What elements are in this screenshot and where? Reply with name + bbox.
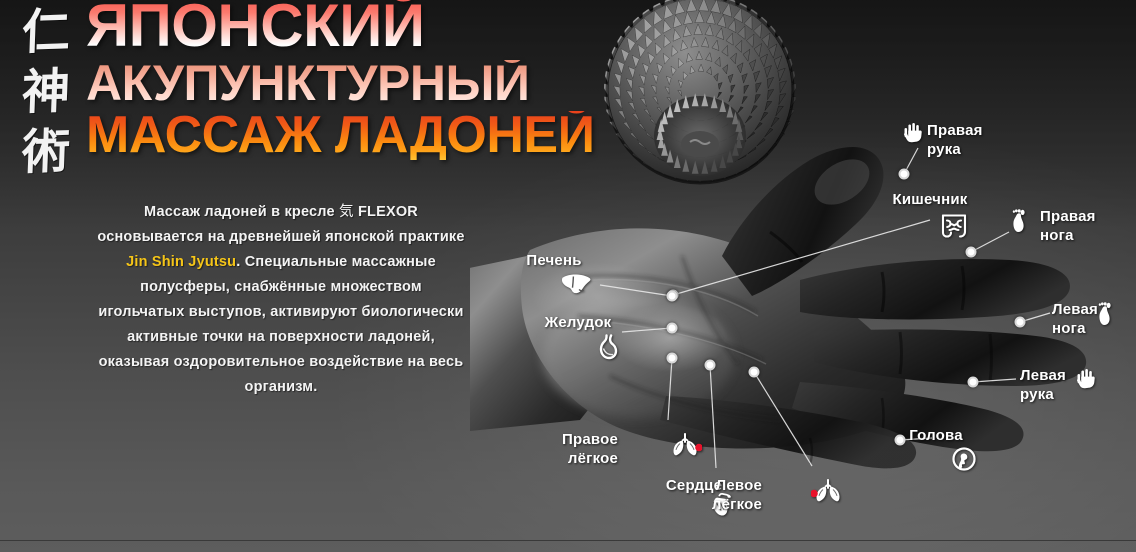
callout-label-line1: Печень	[526, 252, 581, 269]
intestine-icon	[939, 212, 969, 238]
acupressure-dot-правое[interactable]	[667, 353, 678, 364]
callout-label-line1: Левая	[1020, 367, 1066, 384]
callout-label-line2: рука	[927, 141, 961, 158]
acupressure-dot-печень[interactable]	[667, 291, 678, 302]
callout-label-желудок[interactable]: Желудок	[545, 313, 612, 332]
hand-icon	[902, 122, 924, 146]
callout-label-правое[interactable]: Правоелёгкое	[562, 430, 618, 468]
liver-icon	[560, 272, 592, 294]
head-icon	[951, 446, 977, 472]
leader-line-9	[710, 365, 716, 468]
leader-line-7	[622, 328, 672, 332]
acupressure-dot-левая[interactable]	[968, 377, 979, 388]
acupressure-dot-правая[interactable]	[966, 247, 977, 258]
callout-label-левая[interactable]: Леваярука	[1020, 366, 1066, 404]
foot-icon	[1097, 302, 1113, 327]
acupressure-hand-massage-banner: 仁 神 術 ЯПОНСКИЙ АКУПУНКТУРНЫЙ МАССАЖ ЛАДО…	[0, 0, 1136, 552]
leader-line-6	[600, 285, 672, 296]
acupressure-dot-правая[interactable]	[899, 169, 910, 180]
callout-label-line2: лёгкое	[712, 496, 762, 513]
leader-line-4	[973, 379, 1016, 382]
callout-label-line1: Левое	[716, 477, 762, 494]
callout-label-line2: рука	[1020, 386, 1054, 403]
leader-line-10	[754, 372, 812, 466]
callout-label-line2: нога	[1040, 227, 1074, 244]
acupressure-dot-левое[interactable]	[749, 367, 760, 378]
hand-icon	[1075, 368, 1097, 392]
callout-label-line1: Желудок	[545, 314, 612, 331]
callout-label-line1: Правая	[927, 122, 983, 139]
callout-label-line1: Кишечник	[893, 191, 968, 208]
callout-label-левая[interactable]: Леваянога	[1052, 300, 1098, 338]
callout-label-line1: Правое	[562, 431, 618, 448]
callout-label-кишечник[interactable]: Кишечник	[893, 190, 968, 209]
foot-icon	[1011, 209, 1027, 234]
callout-label-line1: Голова	[909, 427, 963, 444]
acupressure-dot-сердце[interactable]	[705, 360, 716, 371]
callout-label-line1: Правая	[1040, 208, 1096, 225]
callout-label-line2: лёгкое	[568, 450, 618, 467]
leader-line-8	[668, 358, 672, 420]
callout-label-печень[interactable]: Печень	[526, 251, 581, 270]
stomach-icon	[597, 334, 621, 360]
callout-label-левое[interactable]: Левоелёгкое	[712, 476, 762, 514]
acupressure-dot-желудок[interactable]	[667, 323, 678, 334]
callout-label-line1: Левая	[1052, 301, 1098, 318]
acupressure-dot-левая[interactable]	[1015, 317, 1026, 328]
callout-label-голова[interactable]: Голова	[909, 426, 963, 445]
lungs-right-icon	[668, 431, 702, 457]
callout-label-правая[interactable]: Праваярука	[927, 121, 983, 159]
callout-overlay: Праваярука Кишечник Праваянога Леваянога	[0, 0, 1136, 552]
leader-line-2	[971, 232, 1009, 252]
leader-line-1	[673, 220, 930, 295]
lungs-left-icon	[811, 477, 845, 503]
callout-label-line2: нога	[1052, 320, 1086, 337]
acupressure-dot-голова[interactable]	[895, 435, 906, 446]
callout-label-правая[interactable]: Праваянога	[1040, 207, 1096, 245]
